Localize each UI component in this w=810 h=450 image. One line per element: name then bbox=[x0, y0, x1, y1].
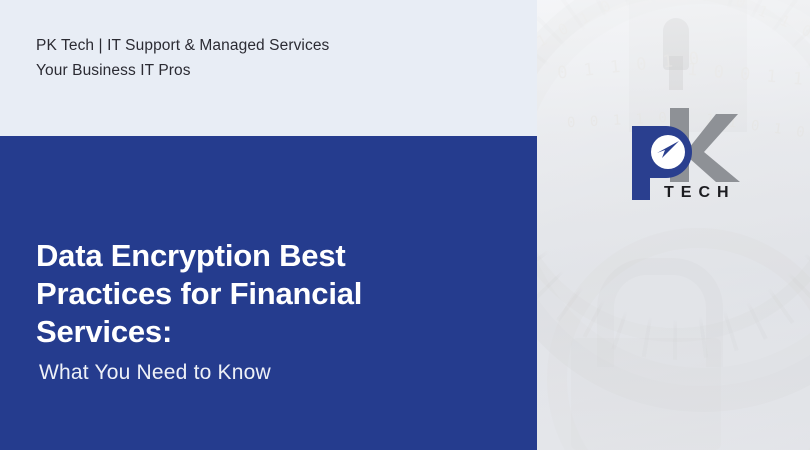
header-band: PK Tech | IT Support & Managed Services … bbox=[0, 0, 537, 136]
title-line-1: Data Encryption Best bbox=[36, 237, 466, 275]
page-title: Data Encryption Best Practices for Finan… bbox=[36, 237, 466, 386]
title-line-3: Services: bbox=[36, 313, 466, 351]
presentation-slide: 0 1 1 0 1 0 1 0 0 1 1 0 0 0 1 1 0 1 1 1 … bbox=[0, 0, 810, 450]
brand-header: PK Tech | IT Support & Managed Services … bbox=[36, 33, 329, 83]
logo-wordmark: TECH bbox=[664, 184, 736, 200]
brand-header-line-2: Your Business IT Pros bbox=[36, 58, 329, 83]
title-line-2: Practices for Financial bbox=[36, 275, 466, 313]
page-subtitle: What You Need to Know bbox=[39, 360, 466, 386]
brand-header-line-1: PK Tech | IT Support & Managed Services bbox=[36, 33, 329, 58]
background-photo-panel: 0 1 1 0 1 0 1 0 0 1 1 0 0 0 1 1 0 1 1 1 … bbox=[537, 0, 810, 450]
photo-overlay-wash bbox=[537, 0, 810, 450]
title-panel: Data Encryption Best Practices for Finan… bbox=[0, 136, 537, 450]
pk-tech-logo: TECH bbox=[624, 108, 744, 200]
